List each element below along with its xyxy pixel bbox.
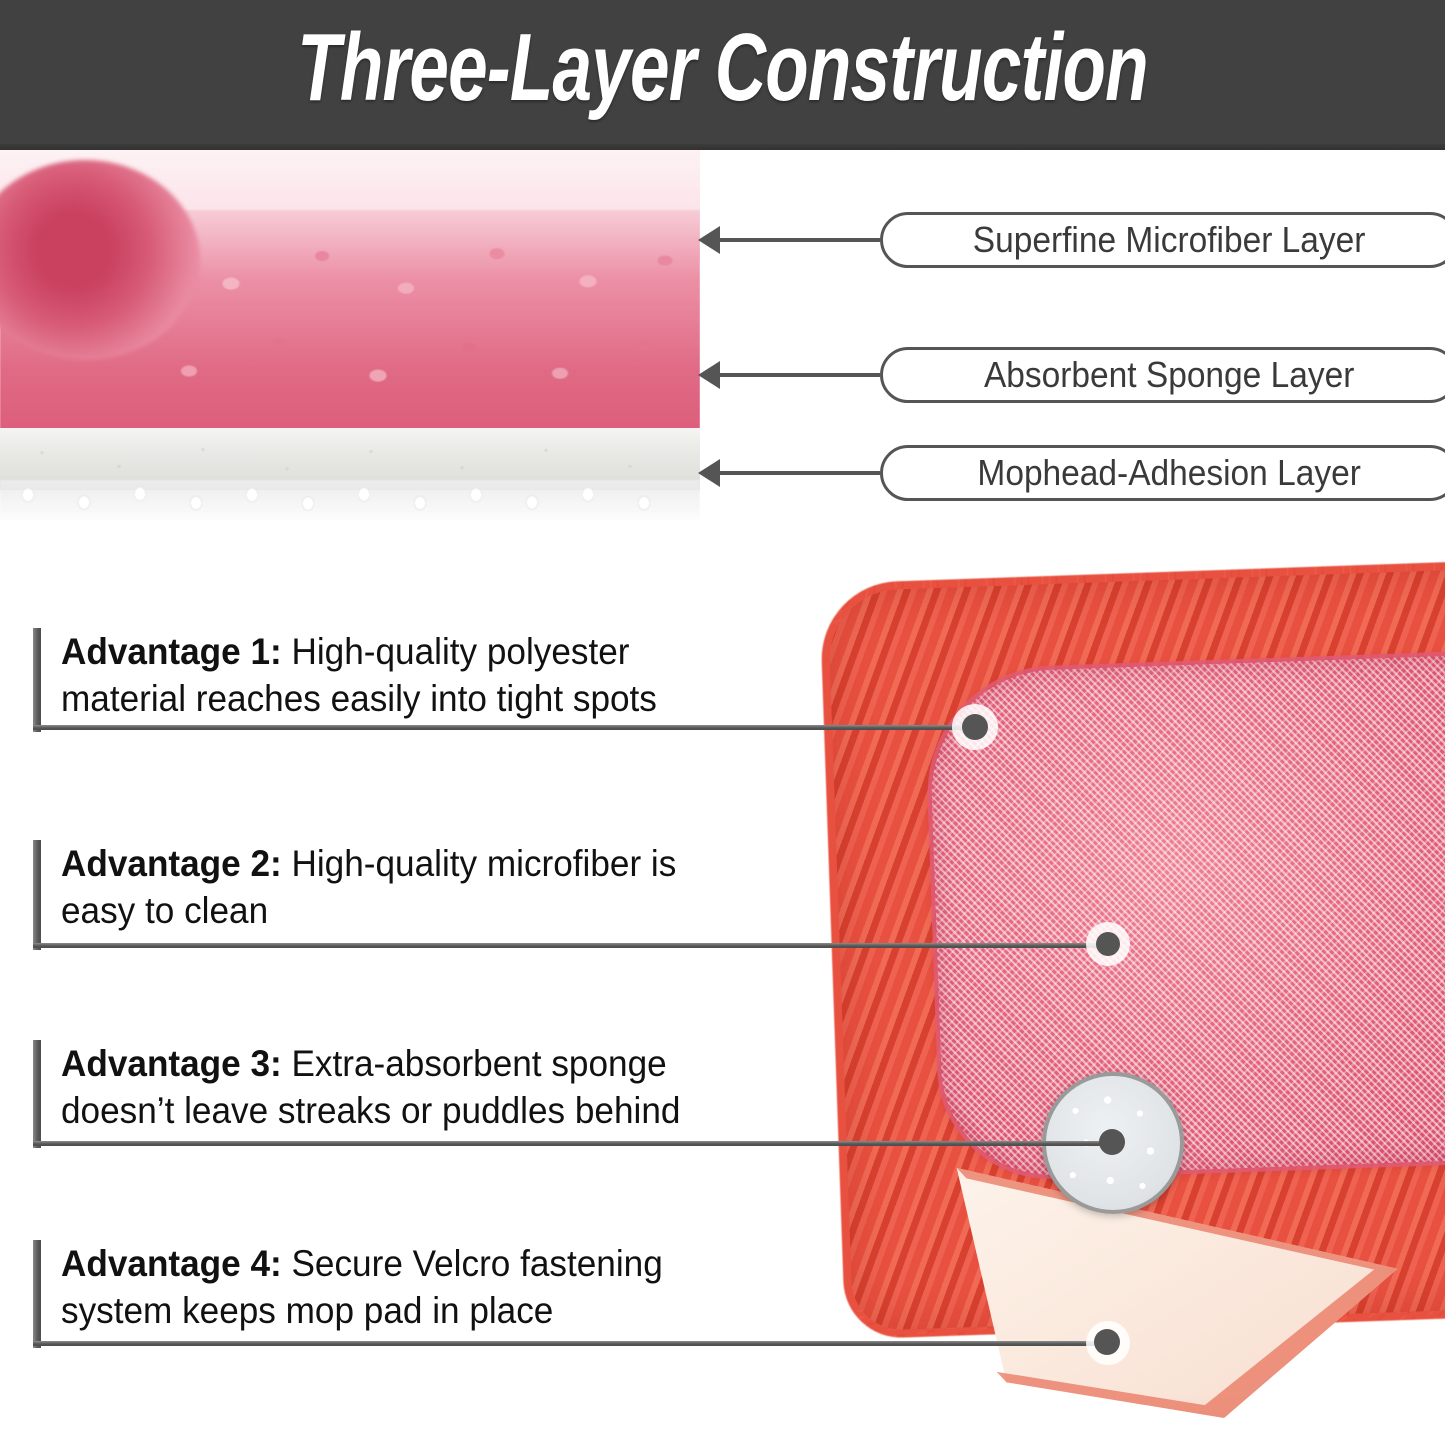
advantage-accent-bar — [33, 1040, 41, 1148]
advantage-1-dot — [962, 714, 988, 740]
callout-leader-line — [720, 471, 880, 475]
advantage-text: Advantage 4: Secure Velcro fastening sys… — [61, 1240, 726, 1334]
advantage-4-dot — [1094, 1329, 1120, 1355]
callout-leader-line — [720, 238, 880, 242]
terry-panel-seam — [923, 650, 1445, 1183]
arrow-left-icon — [698, 361, 720, 389]
callout-label: Superfine Microfiber Layer — [973, 219, 1366, 261]
layer-callout-microfiber: Superfine Microfiber Layer — [698, 212, 1445, 268]
advantage-2-dot — [1096, 932, 1120, 956]
advantage-label: Advantage 2: — [61, 843, 282, 884]
header-bar: Three-Layer Construction — [0, 0, 1445, 150]
advantage-accent-bar — [33, 840, 41, 950]
advantage-3-dot — [1099, 1129, 1125, 1155]
callout-leader-line — [720, 373, 880, 377]
advantage-label: Advantage 1: — [61, 631, 282, 672]
advantage-leader-line — [33, 1341, 1110, 1346]
layer-callout-adhesion: Mophead-Adhesion Layer — [698, 445, 1445, 501]
advantage-label: Advantage 4: — [61, 1243, 282, 1284]
arrow-left-icon — [698, 459, 720, 487]
advantage-text: Advantage 1: High-quality polyester mate… — [61, 628, 726, 722]
callout-pill-microfiber: Superfine Microfiber Layer — [880, 212, 1445, 268]
advantage-accent-bar — [33, 628, 41, 732]
arrow-left-icon — [698, 226, 720, 254]
callout-pill-sponge: Absorbent Sponge Layer — [880, 347, 1445, 403]
page-title: Three-Layer Construction — [188, 8, 1257, 128]
advantage-leader-line — [33, 725, 978, 730]
callout-label: Absorbent Sponge Layer — [984, 354, 1354, 396]
advantage-leader-line — [33, 943, 1111, 948]
callout-label: Mophead-Adhesion Layer — [977, 452, 1360, 494]
advantage-text: Advantage 2: High-quality microfiber is … — [61, 840, 726, 934]
advantage-leader-line — [33, 1141, 1115, 1146]
adhesion-loop-layer-texture — [0, 480, 700, 520]
cross-section-photo — [0, 150, 700, 520]
advantage-text: Advantage 3: Extra-absorbent sponge does… — [61, 1040, 726, 1134]
callout-pill-adhesion: Mophead-Adhesion Layer — [880, 445, 1445, 501]
layer-callout-sponge: Absorbent Sponge Layer — [698, 347, 1445, 403]
advantage-accent-bar — [33, 1240, 41, 1348]
advantage-label: Advantage 3: — [61, 1043, 282, 1084]
mop-pad-photo — [780, 560, 1445, 1445]
